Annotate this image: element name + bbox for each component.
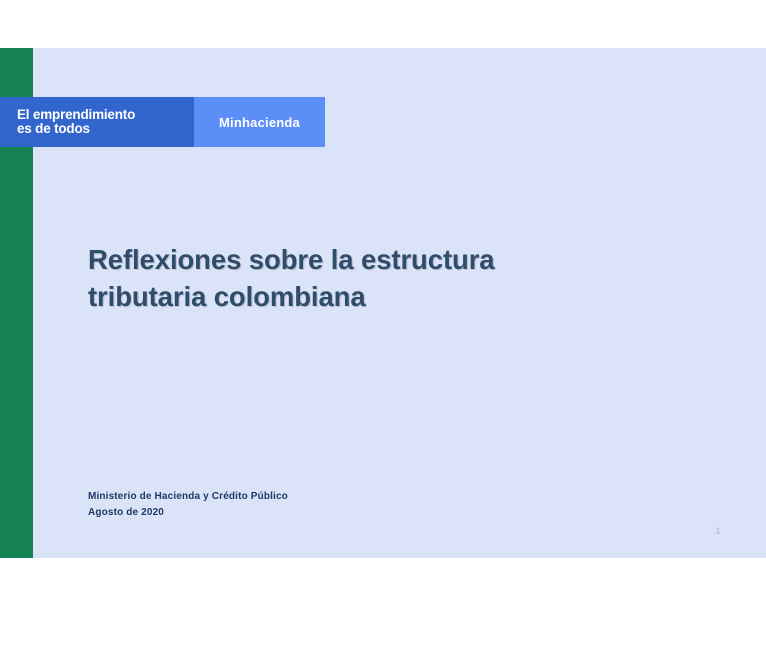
byline-organization: Ministerio de Hacienda y Crédito Público: [88, 489, 288, 505]
logo-brand-block: Minhacienda: [194, 97, 325, 147]
minhacienda-logo: El emprendimiento es de todos Minhaciend…: [0, 97, 325, 147]
byline-date: Agosto de 2020: [88, 505, 288, 521]
logo-slogan-block: El emprendimiento es de todos: [0, 97, 194, 147]
slide-viewport: El emprendimiento es de todos Minhaciend…: [0, 0, 766, 653]
logo-slogan-text: El emprendimiento es de todos: [17, 108, 135, 136]
title-slide: El emprendimiento es de todos Minhaciend…: [0, 48, 766, 558]
byline: Ministerio de Hacienda y Crédito Público…: [88, 489, 288, 521]
page-title: Reflexiones sobre la estructura tributar…: [88, 242, 688, 315]
page-number: 1: [710, 526, 726, 536]
title-block: Reflexiones sobre la estructura tributar…: [88, 242, 688, 315]
logo-brand-text: Minhacienda: [219, 115, 300, 130]
